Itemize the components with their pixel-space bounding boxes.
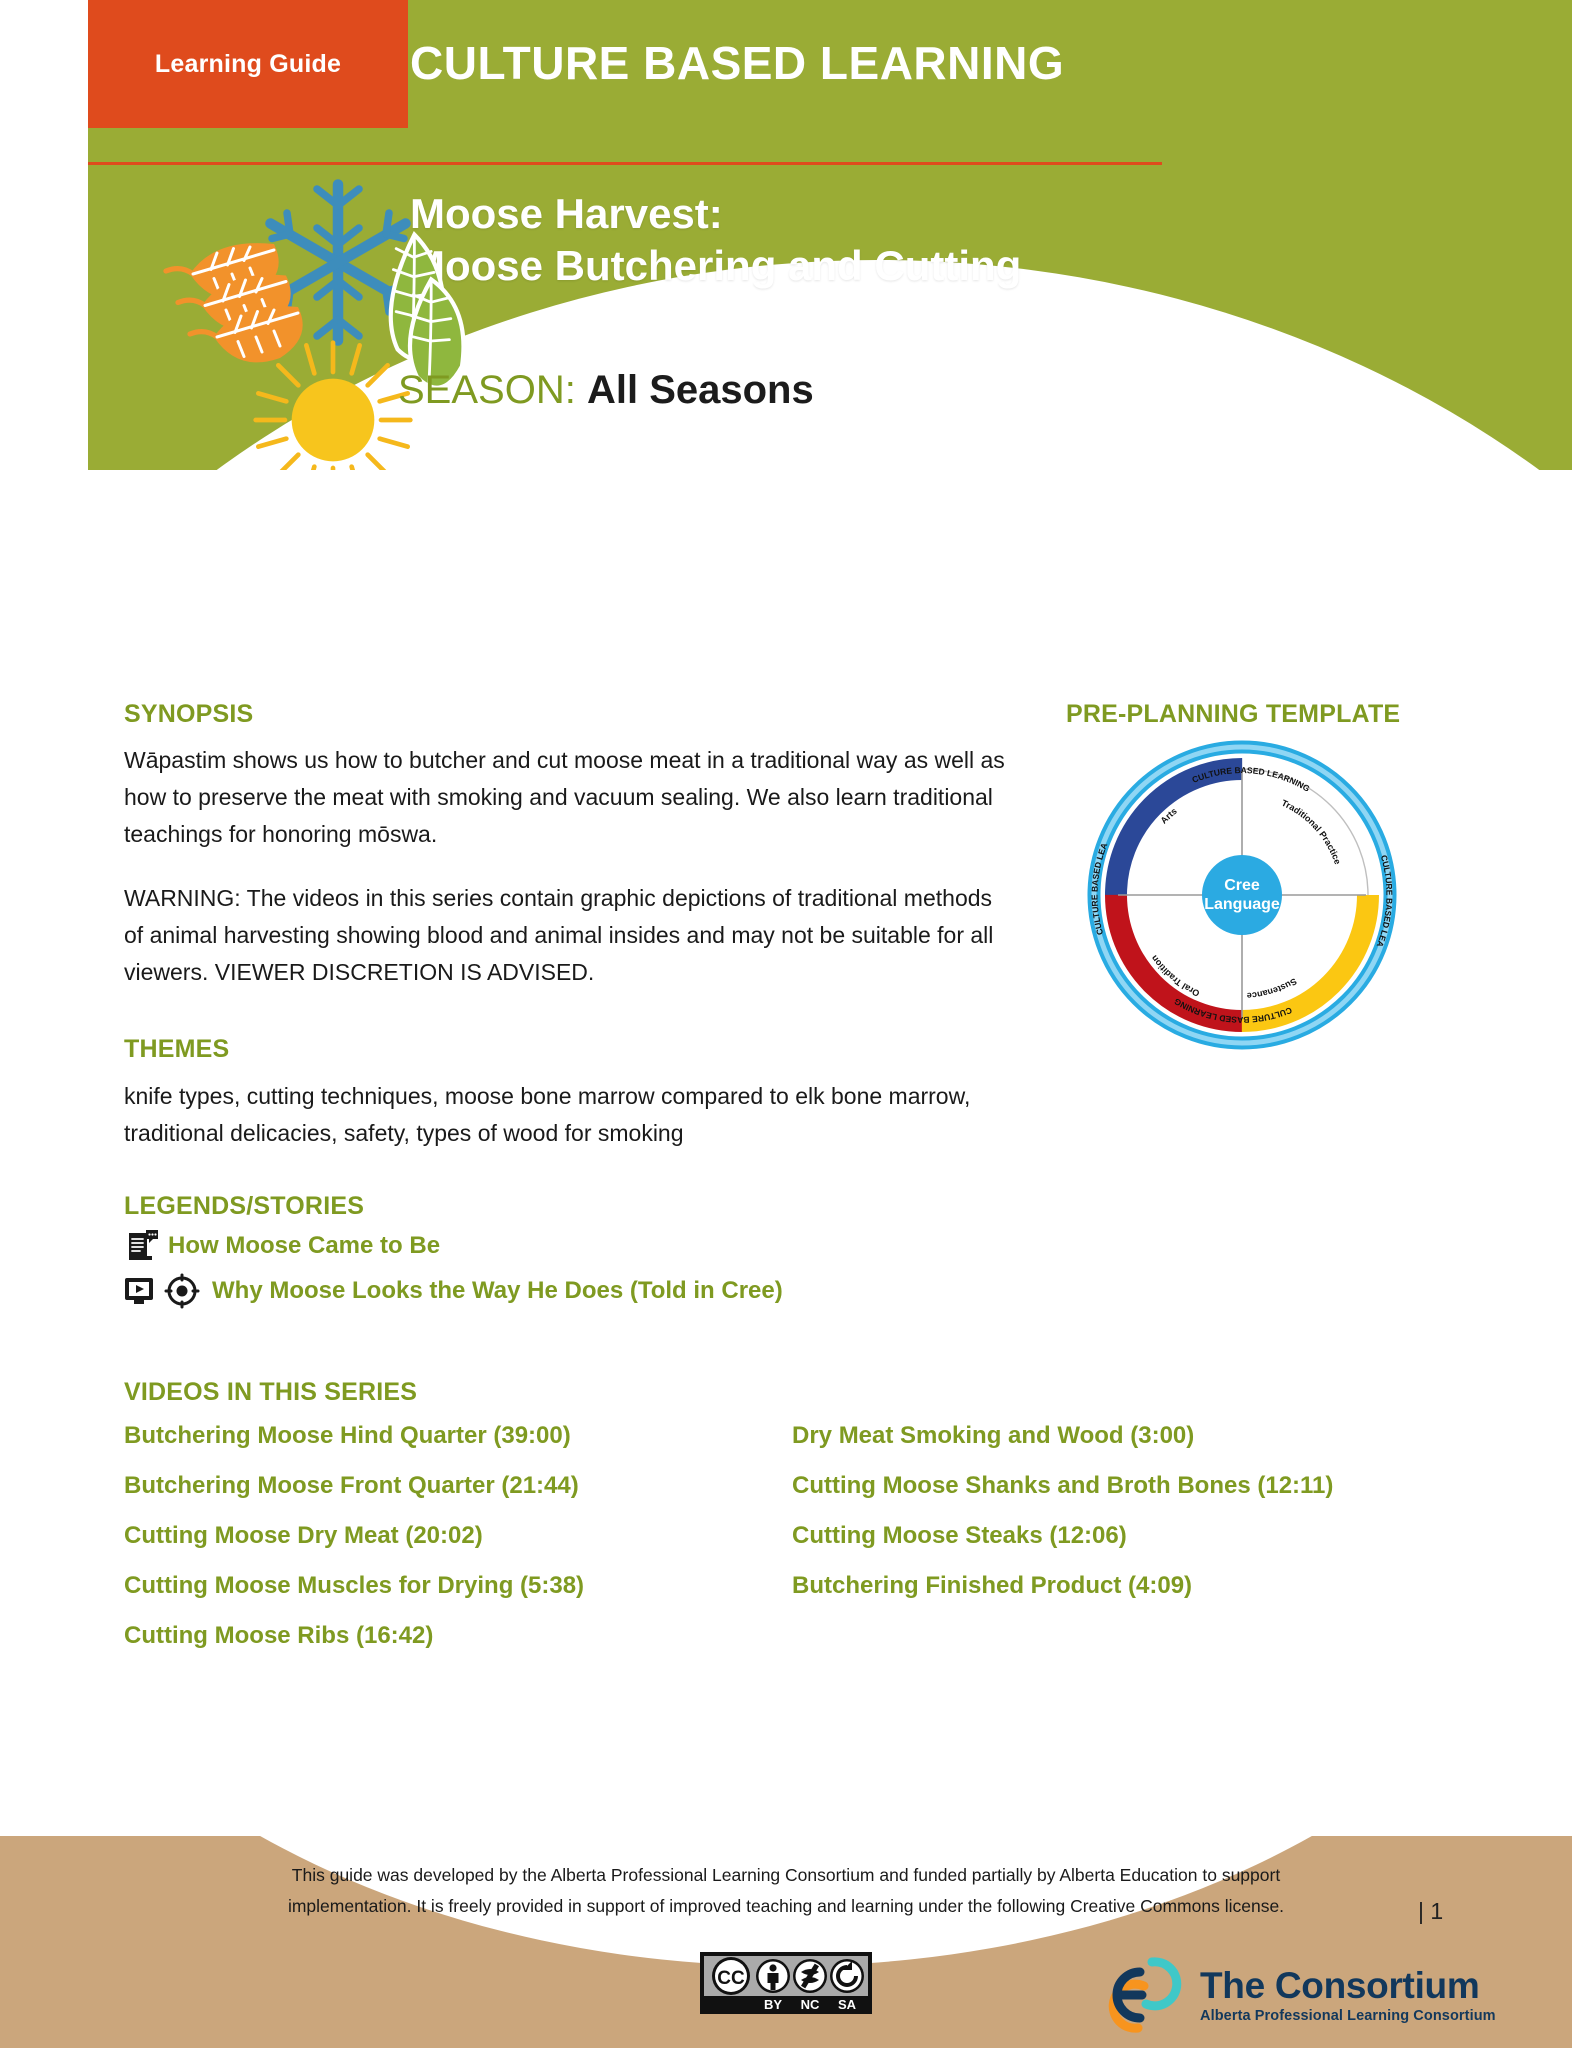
wheel-center-line1: Cree xyxy=(1224,877,1260,894)
themes-heading: THEMES xyxy=(124,1035,229,1064)
video-list-item[interactable]: Butchering Moose Front Quarter (21:44) xyxy=(124,1470,764,1502)
cc-term-nc: NC xyxy=(801,1997,820,2012)
video-list-item[interactable]: Cutting Moose Shanks and Broth Bones (12… xyxy=(792,1470,1492,1502)
synopsis-warning-paragraph: WARNING: The videos in this series conta… xyxy=(124,880,1014,991)
brand-title: CULTURE BASED LEARNING xyxy=(410,36,1064,90)
learning-guide-badge-label: Learning Guide xyxy=(88,0,408,128)
page-title: Moose Harvest: Moose Butchering and Cutt… xyxy=(410,188,1021,292)
consortium-name: The Consortium xyxy=(1200,1967,1496,2004)
video-player-icon xyxy=(122,1273,160,1309)
synopsis-paragraph-1: Wāpastim shows us how to butcher and cut… xyxy=(124,742,1024,853)
legend-item-label: Why Moose Looks the Way He Does (Told in… xyxy=(212,1277,783,1305)
video-list-left-column: Butchering Moose Hind Quarter (39:00) Bu… xyxy=(124,1420,764,1670)
legend-item-why-moose-looks-the-way-he-does[interactable]: Why Moose Looks the Way He Does (Told in… xyxy=(122,1273,783,1309)
videos-in-series-heading: VIDEOS IN THIS SERIES xyxy=(124,1378,417,1407)
story-scroll-icon xyxy=(124,1228,160,1264)
cc-term-sa: SA xyxy=(838,1997,857,2012)
season-label: SEASON: xyxy=(398,368,576,412)
wheel-label-sustenance: Sustenance xyxy=(1246,976,1298,1001)
legends-stories-heading: LEGENDS/STORIES xyxy=(124,1192,364,1221)
consortium-logo[interactable]: The Consortium Alberta Professional Lear… xyxy=(1100,1950,1496,2040)
consortium-subtitle: Alberta Professional Learning Consortium xyxy=(1200,2009,1496,2024)
header-banner: Learning Guide CULTURE BASED LEARNING Mo… xyxy=(88,0,1572,470)
video-list-item[interactable]: Cutting Moose Dry Meat (20:02) xyxy=(124,1520,764,1552)
video-list-item[interactable]: Butchering Finished Product (4:09) xyxy=(792,1570,1492,1602)
footer-attribution-text: This guide was developed by the Alberta … xyxy=(286,1860,1286,1922)
page-number: | 1 xyxy=(1418,1898,1443,1925)
sun-icon xyxy=(253,340,413,470)
legend-item-how-moose-came-to-be[interactable]: How Moose Came to Be xyxy=(124,1228,440,1264)
header-divider-rule xyxy=(88,162,1162,165)
video-list-item[interactable]: Cutting Moose Muscles for Drying (5:38) xyxy=(124,1570,764,1602)
pre-planning-template-heading: PRE-PLANNING TEMPLATE xyxy=(1066,700,1400,729)
wheel-center-line2: Language xyxy=(1204,896,1280,913)
themes-body: knife types, cutting techniques, moose b… xyxy=(124,1078,1024,1152)
video-list-item[interactable]: Dry Meat Smoking and Wood (3:00) xyxy=(792,1420,1492,1452)
cc-term-by: BY xyxy=(764,1997,782,2012)
video-list-item[interactable]: Cutting Moose Steaks (12:06) xyxy=(792,1520,1492,1552)
cc-mark-label: CC xyxy=(717,1968,745,1989)
season-value: All Seasons xyxy=(587,368,814,412)
learning-guide-page: Learning Guide CULTURE BASED LEARNING Mo… xyxy=(0,0,1572,2048)
season-line: SEASON: All Seasons xyxy=(398,368,814,413)
legend-item-label: How Moose Came to Be xyxy=(168,1232,440,1260)
synopsis-heading: SYNOPSIS xyxy=(124,700,253,729)
creative-commons-badge[interactable]: CC BY NC SA xyxy=(700,1952,872,2014)
consortium-logo-mark xyxy=(1100,1950,1186,2040)
video-list-item[interactable]: Cutting Moose Ribs (16:42) xyxy=(124,1620,764,1652)
audio-disc-icon xyxy=(164,1273,200,1309)
wheel-center-circle xyxy=(1202,855,1282,935)
video-list-right-column: Dry Meat Smoking and Wood (3:00) Cutting… xyxy=(792,1420,1492,1620)
consortium-wordmark: The Consortium Alberta Professional Lear… xyxy=(1200,1967,1496,2024)
pre-planning-wheel-diagram[interactable]: Cree Language Arts Traditional Practice … xyxy=(1082,735,1402,1055)
video-list-item[interactable]: Butchering Moose Hind Quarter (39:00) xyxy=(124,1420,764,1452)
wheel-ring-label-top: CULTURE BASED LEARNING xyxy=(1191,765,1312,794)
